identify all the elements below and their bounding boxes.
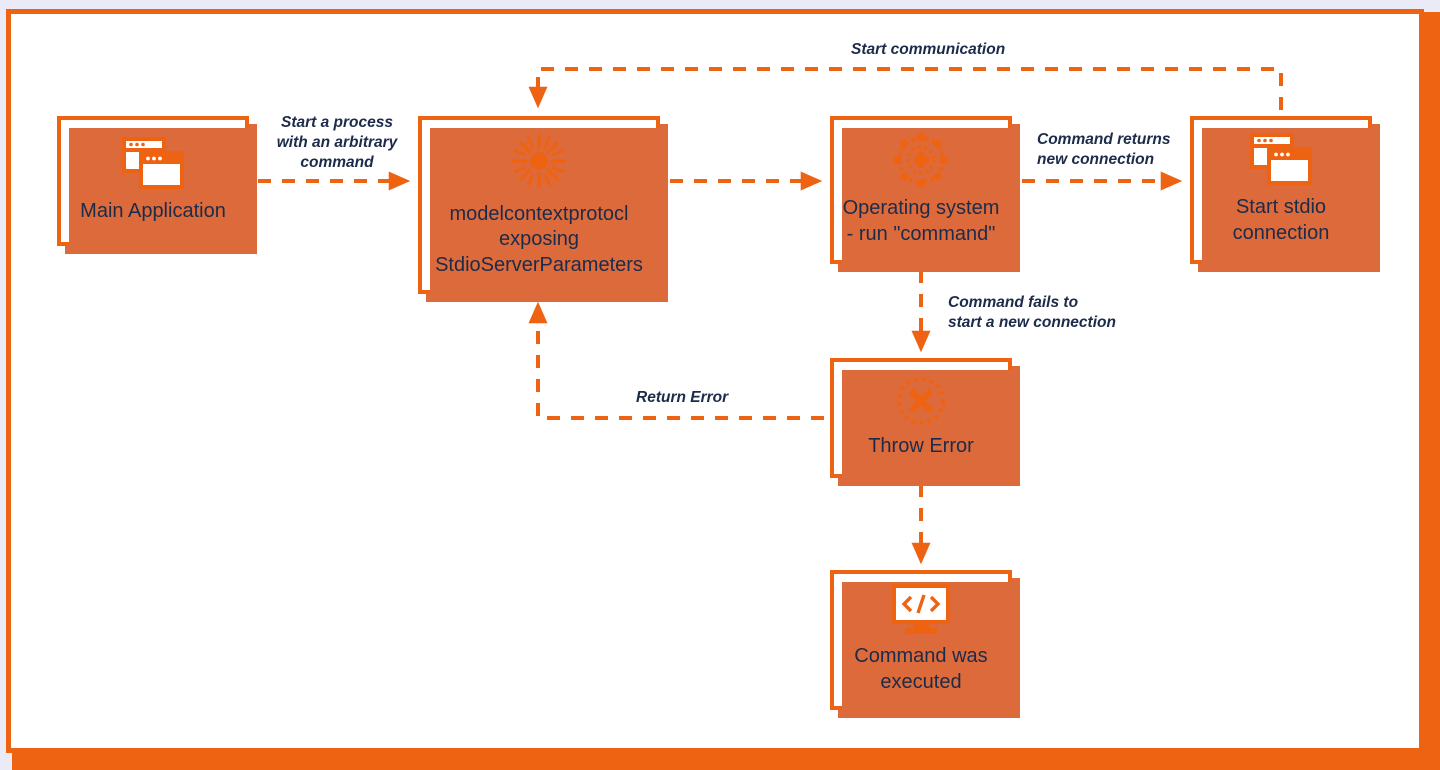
windows-stack-icon <box>1250 133 1312 185</box>
node-label-os: Operating system - run "command" <box>837 196 1006 247</box>
diagram-canvas: Start a process with an arbitrary comman… <box>0 0 1440 770</box>
node-label-stdio: Start stdio connection <box>1227 195 1336 246</box>
node-os[interactable]: Operating system - run "command" <box>830 116 1012 264</box>
node-label-throw-error: Throw Error <box>862 434 980 460</box>
edge-label-command-returns: Command returns new connection <box>1037 130 1187 170</box>
node-mcp[interactable]: modelcontextprotocl exposing StdioServer… <box>418 116 660 294</box>
error-circle-x-icon <box>896 376 946 426</box>
edge-start-communication <box>538 69 1281 110</box>
node-main-application[interactable]: Main Application <box>57 116 249 246</box>
monitor-code-icon <box>891 584 951 636</box>
edge-label-command-fails: Command fails to start a new connection <box>948 293 1178 333</box>
edge-label-start-process: Start a process with an arbitrary comman… <box>262 113 412 173</box>
node-label-command-executed: Command was executed <box>848 644 993 695</box>
edge-label-start-communication: Start communication <box>851 40 1151 60</box>
windows-stack-icon <box>122 137 184 189</box>
node-throw-error[interactable]: Throw Error <box>830 358 1012 478</box>
node-label-main-application: Main Application <box>74 199 232 225</box>
starburst-icon <box>510 132 568 190</box>
gear-icon <box>893 132 949 188</box>
node-command-executed[interactable]: Command was executed <box>830 570 1012 710</box>
node-stdio[interactable]: Start stdio connection <box>1190 116 1372 264</box>
edge-label-return-error: Return Error <box>636 388 796 408</box>
node-label-mcp: modelcontextprotocl exposing StdioServer… <box>429 202 649 279</box>
